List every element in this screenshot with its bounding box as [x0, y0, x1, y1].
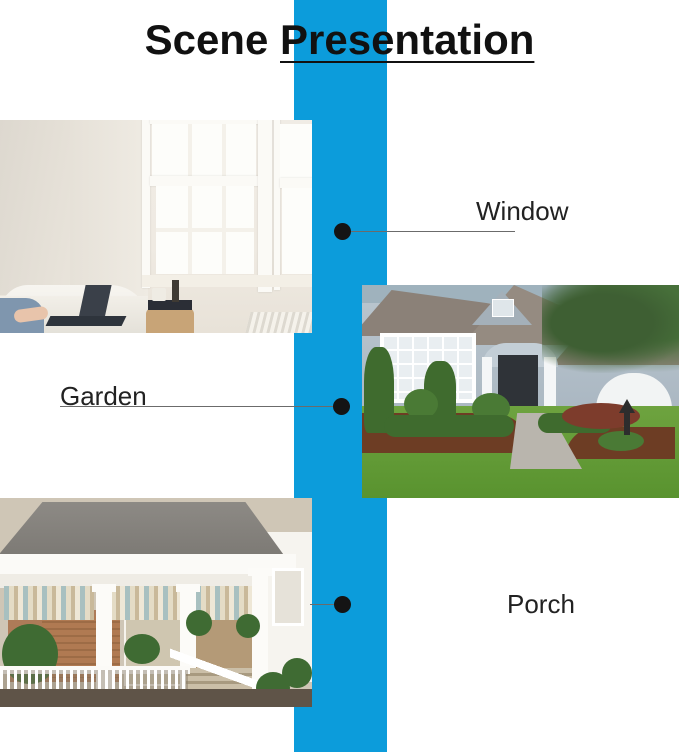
- callout-label-porch: Porch: [507, 589, 575, 620]
- photo-window[interactable]: [0, 120, 312, 333]
- callout-line-window: [342, 231, 515, 232]
- scene-presentation-infographic: Scene Presentation: [0, 0, 679, 752]
- callout-dot-garden[interactable]: [333, 398, 350, 415]
- callout-dot-window[interactable]: [334, 223, 351, 240]
- page-title: Scene Presentation: [0, 16, 679, 64]
- porch-photo-art: [0, 498, 312, 707]
- photo-garden[interactable]: [362, 285, 679, 498]
- garden-photo-art: [362, 285, 679, 498]
- callout-dot-porch[interactable]: [334, 596, 351, 613]
- title-word-underlined: Presentation: [280, 16, 534, 63]
- window-photo-art: [0, 120, 312, 333]
- callout-label-garden: Garden: [60, 381, 147, 412]
- title-word-plain: Scene: [145, 16, 280, 63]
- callout-label-window: Window: [476, 196, 568, 227]
- photo-porch[interactable]: [0, 498, 312, 707]
